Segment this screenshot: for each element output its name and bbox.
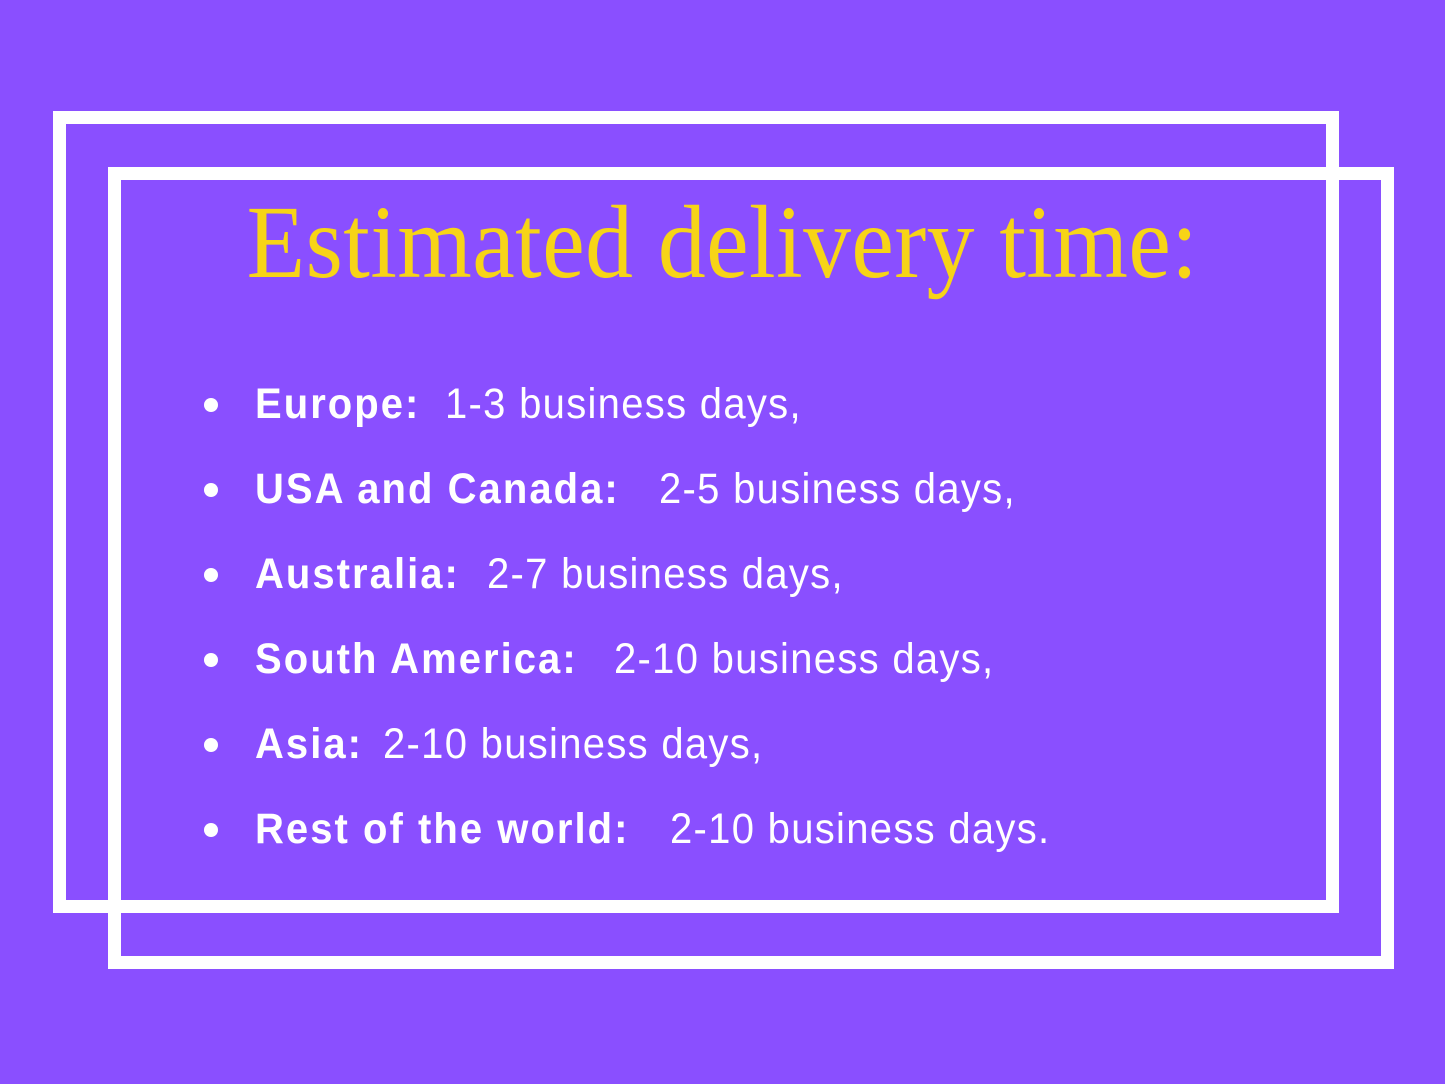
list-item: USA and Canada: 2-5 business days, xyxy=(197,447,1297,532)
list-item-label: Rest of the world: xyxy=(255,787,630,872)
bullet-dot-icon xyxy=(204,823,218,837)
bullet-dot-icon xyxy=(204,738,218,752)
list-item: Europe: 1-3 business days, xyxy=(197,362,1297,447)
list-item-value: 2-10 business days, xyxy=(614,617,994,702)
list-item-value: 2-10 business days. xyxy=(670,787,1050,872)
list-item-label: USA and Canada: xyxy=(255,447,620,532)
list-item-label: Australia: xyxy=(255,532,460,617)
list-item-value: 2-5 business days, xyxy=(659,447,1016,532)
list-item: Rest of the world: 2-10 business days. xyxy=(197,787,1297,872)
list-item: Australia: 2-7 business days, xyxy=(197,532,1297,617)
bullet-dot-icon xyxy=(204,398,218,412)
delivery-time-graphic: Estimated delivery time: Europe: 1-3 bus… xyxy=(0,0,1445,1084)
list-item: South America: 2-10 business days, xyxy=(197,617,1297,702)
list-item-label: Asia: xyxy=(255,702,363,787)
bullet-dot-icon xyxy=(204,483,218,497)
list-item-value: 2-10 business days, xyxy=(383,702,763,787)
bullet-dot-icon xyxy=(204,653,218,667)
delivery-list: Europe: 1-3 business days,USA and Canada… xyxy=(197,362,1297,872)
list-item: Asia: 2-10 business days, xyxy=(197,702,1297,787)
bullet-dot-icon xyxy=(204,568,218,582)
list-item-label: South America: xyxy=(255,617,578,702)
page-title: Estimated delivery time: xyxy=(58,188,1387,297)
list-item-label: Europe: xyxy=(255,362,420,447)
list-item-value: 2-7 business days, xyxy=(487,532,844,617)
content-area: Estimated delivery time: Europe: 1-3 bus… xyxy=(0,0,1445,1084)
list-item-value: 1-3 business days, xyxy=(445,362,802,447)
